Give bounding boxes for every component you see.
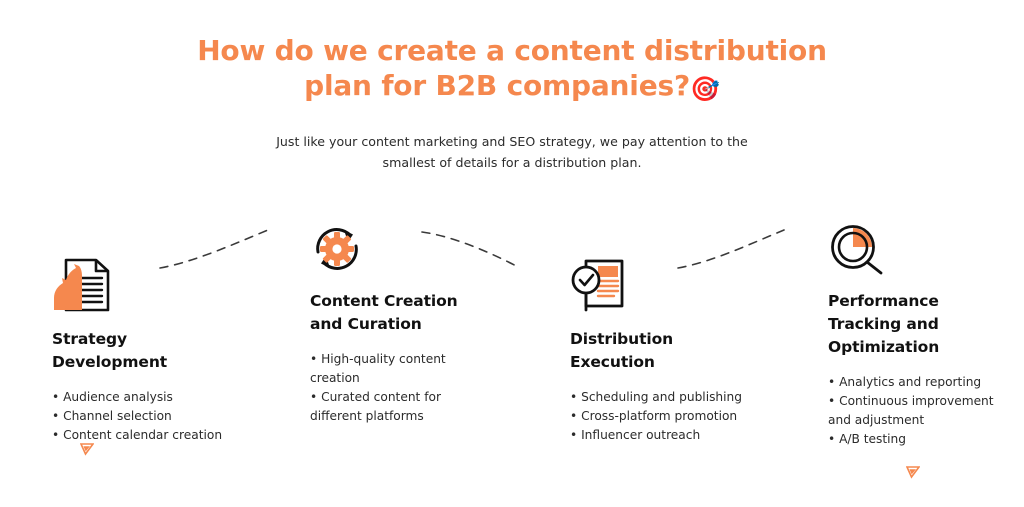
heading-line-2: Execution: [570, 351, 770, 374]
step-bullet-list: • Analytics and reporting • Continuous i…: [828, 373, 1018, 449]
step-card-strategy-development: Strategy Development • Audience analysis…: [52, 258, 262, 445]
list-item-label: A/B testing: [839, 432, 906, 446]
list-item: • Analytics and reporting: [828, 373, 1018, 392]
bullet-dot-icon: •: [828, 432, 835, 446]
heading-line-2: and Curation: [310, 313, 478, 336]
step-bullet-list: • High-quality content creation • Curate…: [310, 350, 478, 426]
bullet-dot-icon: •: [570, 428, 577, 442]
step-heading-content-creation-and-curation: Content Creation and Curation: [310, 290, 478, 336]
bullet-dot-icon: •: [570, 390, 577, 404]
dartboard-emoji-icon: 🎯: [690, 75, 720, 103]
bullet-dot-icon: •: [52, 428, 59, 442]
step-card-distribution-execution: Distribution Execution • Scheduling and …: [570, 258, 770, 445]
heading-line-2: Tracking and: [828, 313, 1018, 336]
bullet-dot-icon: •: [828, 375, 835, 389]
page-title-line-1: How do we create a content distribution: [0, 33, 1024, 68]
page-title-line-2-text: plan for B2B companies?: [304, 69, 690, 102]
bullet-dot-icon: •: [570, 409, 577, 423]
list-item: • High-quality content creation: [310, 350, 478, 388]
list-item-label: Audience analysis: [63, 390, 173, 404]
bullet-dot-icon: •: [52, 409, 59, 423]
step-card-performance-tracking-and-optimization: Performance Tracking and Optimization • …: [828, 222, 1018, 449]
bullet-dot-icon: •: [828, 394, 835, 408]
bullet-dot-icon: •: [310, 390, 317, 404]
page-subtitle-line-1: Just like your content marketing and SEO…: [0, 131, 1024, 152]
list-item-label: High-quality content creation: [310, 352, 446, 385]
step-card-content-creation-and-curation: Content Creation and Curation • High-qua…: [310, 222, 478, 426]
step-heading-performance-tracking-and-optimization: Performance Tracking and Optimization: [828, 290, 1018, 359]
chess-knight-document-icon: [52, 258, 112, 312]
page-title: How do we create a content distribution …: [0, 0, 1024, 107]
heading-line-1: Content Creation: [310, 290, 478, 313]
step-bullet-list: • Scheduling and publishing • Cross-plat…: [570, 388, 770, 445]
step-heading-strategy-development: Strategy Development: [52, 328, 262, 374]
list-item-label: Scheduling and publishing: [581, 390, 742, 404]
heading-line-1: Distribution: [570, 328, 770, 351]
list-item: • Continuous improvement and adjustment: [828, 392, 1018, 430]
list-item: • Channel selection: [52, 407, 262, 426]
page-subtitle-line-2: smallest of details for a distribution p…: [0, 152, 1024, 173]
list-item: • A/B testing: [828, 430, 1018, 449]
gear-refresh-cycle-icon: [310, 222, 364, 276]
header: How do we create a content distribution …: [0, 0, 1024, 173]
list-item: • Scheduling and publishing: [570, 388, 770, 407]
heading-line-2: Development: [52, 351, 262, 374]
list-item-label: Cross-platform promotion: [581, 409, 737, 423]
bullet-dot-icon: •: [52, 390, 59, 404]
page-subtitle: Just like your content marketing and SEO…: [0, 107, 1024, 173]
list-item-label: Continuous improvement and adjustment: [828, 394, 994, 427]
bullet-dot-icon: •: [310, 352, 317, 366]
checkmark-document-icon: [570, 258, 628, 312]
list-item: • Content calendar creation: [52, 426, 262, 445]
list-item: • Curated content for different platform…: [310, 388, 478, 426]
list-item: • Cross-platform promotion: [570, 407, 770, 426]
list-item-label: Channel selection: [63, 409, 172, 423]
page-title-line-2: plan for B2B companies?🎯: [0, 68, 1024, 107]
heading-line-3: Optimization: [828, 336, 1018, 359]
list-item: • Influencer outreach: [570, 426, 770, 445]
list-item-label: Analytics and reporting: [839, 375, 981, 389]
list-item-label: Influencer outreach: [581, 428, 700, 442]
list-item: • Audience analysis: [52, 388, 262, 407]
triangle-marker-right: [906, 466, 920, 479]
step-heading-distribution-execution: Distribution Execution: [570, 328, 770, 374]
heading-line-1: Strategy: [52, 328, 262, 351]
heading-line-1: Performance: [828, 290, 1018, 313]
step-bullet-list: • Audience analysis • Channel selection …: [52, 388, 262, 445]
magnifier-pie-chart-icon: [828, 222, 884, 276]
list-item-label: Content calendar creation: [63, 428, 222, 442]
list-item-label: Curated content for different platforms: [310, 390, 441, 423]
